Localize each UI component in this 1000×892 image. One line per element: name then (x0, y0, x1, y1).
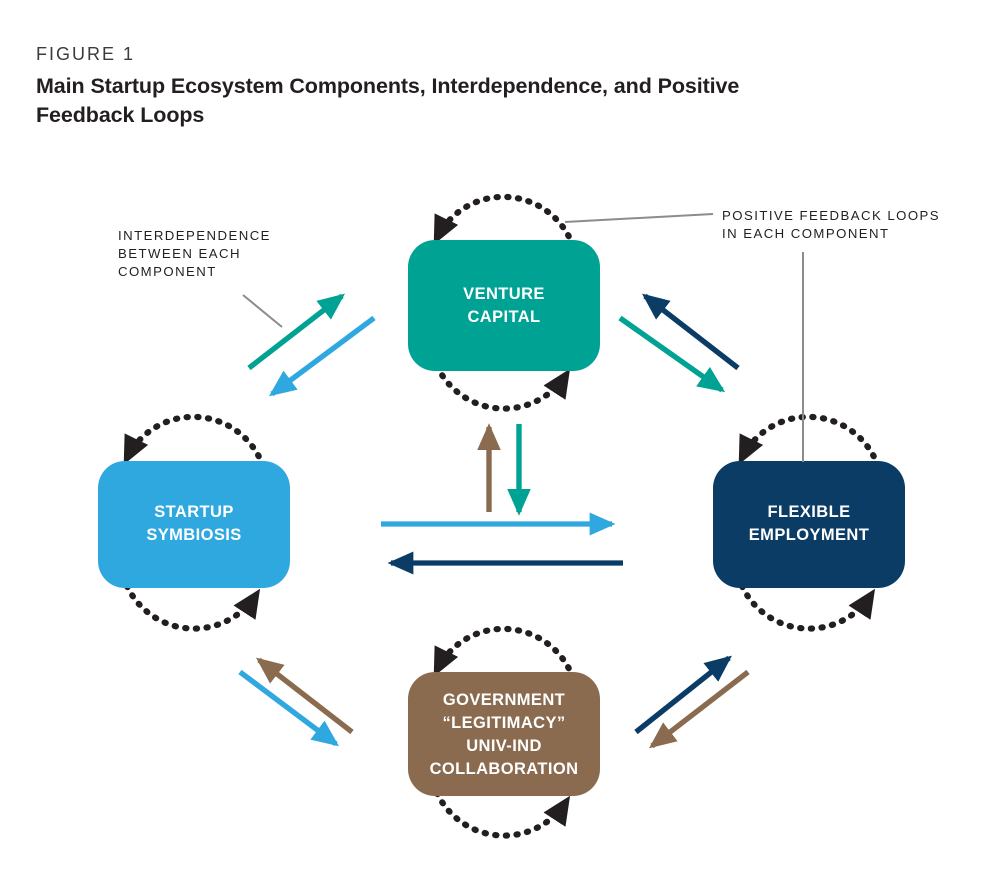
node-label-line-1: FLEXIBLE (768, 503, 851, 521)
node-box[interactable] (408, 240, 600, 371)
node-government[interactable]: GOVERNMENT “LEGITIMACY” UNIV-IND COLLABO… (408, 672, 600, 796)
figure-page: FIGURE 1 Main Startup Ecosystem Componen… (0, 0, 1000, 892)
loop-arc-bottom (437, 366, 566, 409)
loop-arc-bottom (742, 586, 871, 629)
node-label-line-1: VENTURE (463, 285, 545, 303)
loop-arc-top (742, 417, 878, 466)
loop-arc-bottom (437, 793, 566, 836)
annotation-line-2: IN EACH COMPONENT (722, 226, 890, 241)
annotation-line-1: INTERDEPENDENCE (118, 228, 271, 243)
node-label-line-3: UNIV-IND (466, 737, 542, 755)
arrow-fe-to-vc (645, 296, 738, 368)
annotation-leader-line-top (565, 214, 713, 222)
arrow-pair-gov-ss (240, 660, 352, 744)
node-flexible-employment[interactable]: FLEXIBLE EMPLOYMENT (713, 461, 905, 588)
annotation-line-1: POSITIVE FEEDBACK LOOPS (722, 208, 940, 223)
arrow-vc-to-ss (272, 318, 374, 394)
arrow-ss-to-vc (249, 296, 342, 368)
annotation-interdependence: INTERDEPENDENCE BETWEEN EACH COMPONENT (118, 228, 282, 327)
node-box[interactable] (98, 461, 290, 588)
node-label-line-2: EMPLOYMENT (749, 526, 869, 544)
arrow-pair-gov-fe (636, 658, 748, 746)
node-startup-symbiosis[interactable]: STARTUP SYMBIOSIS (98, 461, 290, 588)
annotation-positive-feedback: POSITIVE FEEDBACK LOOPS IN EACH COMPONEN… (565, 208, 940, 462)
annotation-line-3: COMPONENT (118, 264, 217, 279)
arrow-pair-horizontal-center (381, 524, 623, 563)
node-label-line-2: SYMBIOSIS (146, 526, 241, 544)
arrow-pair-fe-vc (620, 296, 738, 390)
arrow-vc-to-fe (620, 318, 722, 390)
arrow-pair-vertical-center (489, 424, 519, 512)
loop-arc-top (437, 197, 573, 246)
node-box[interactable] (713, 461, 905, 588)
loop-arc-top (127, 417, 263, 466)
loop-arc-top (437, 629, 573, 678)
ecosystem-diagram: VENTURE CAPITAL STARTUP SYMBIOSIS FLEXIB… (0, 0, 1000, 892)
arrow-pair-ss-vc (249, 296, 374, 394)
loop-arc-bottom (127, 586, 256, 629)
annotation-leader-line (243, 295, 282, 327)
annotation-line-2: BETWEEN EACH (118, 246, 241, 261)
node-venture-capital[interactable]: VENTURE CAPITAL (408, 240, 600, 371)
node-label-line-1: STARTUP (154, 503, 234, 521)
node-label-line-2: CAPITAL (467, 308, 540, 326)
node-label-line-1: GOVERNMENT (443, 691, 565, 709)
node-label-line-4: COLLABORATION (430, 760, 579, 778)
node-label-line-2: “LEGITIMACY” (442, 714, 565, 732)
